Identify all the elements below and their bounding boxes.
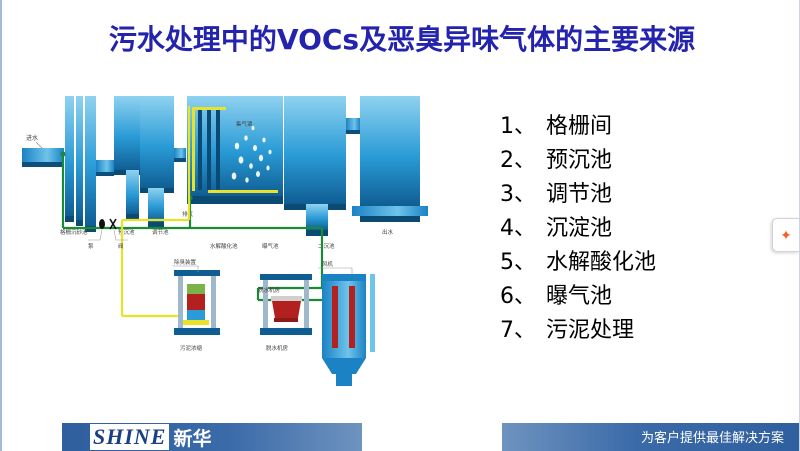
list-item: 5、 水解酸化池 bbox=[500, 244, 760, 278]
list-item-number: 4、 bbox=[500, 210, 546, 242]
list-item-number: 3、 bbox=[500, 176, 546, 208]
tank-grit-chamber bbox=[65, 96, 114, 232]
footer-tagline: 为客户提供最佳解决方案 bbox=[641, 427, 784, 446]
tank-pre-settling bbox=[114, 96, 140, 220]
floating-edge-widget[interactable]: ✦ bbox=[772, 218, 799, 252]
label-inlet: 进水 bbox=[26, 134, 38, 142]
pipe-node bbox=[60, 151, 65, 156]
label-hydrolysis: 水解酸化池 bbox=[210, 242, 238, 250]
list-item-number: 6、 bbox=[500, 278, 546, 310]
label-sludge-thicken: 污泥浓缩 bbox=[180, 344, 203, 352]
label-secondary: 二沉池 bbox=[318, 242, 335, 250]
list-item-number: 5、 bbox=[500, 244, 546, 276]
tank-hydrolysis-acidification bbox=[187, 96, 283, 204]
logo-text-cn: 新华 bbox=[173, 424, 211, 451]
list-item-label: 污泥处理 bbox=[546, 312, 634, 344]
process-flow-diagram: 进水 bbox=[22, 88, 462, 398]
list-item-number: 1、 bbox=[500, 108, 546, 140]
label-collect-hood: 集气罩 bbox=[236, 120, 253, 128]
slide-canvas: 污水处理中的VOCs及恶臭异味气体的主要来源 bbox=[0, 0, 800, 451]
list-item: 7、 污泥处理 bbox=[500, 312, 760, 346]
diffuser-rod bbox=[216, 110, 220, 190]
tank-secondary-clarifier bbox=[352, 96, 428, 222]
list-item: 1、 格栅间 bbox=[500, 108, 760, 142]
label-effluent: 出水 bbox=[382, 228, 394, 236]
tank-regulating bbox=[140, 96, 186, 228]
diffuser-rod bbox=[207, 110, 211, 190]
label-dewater-room: 脱水机房 bbox=[266, 344, 289, 352]
list-item: 2、 预沉池 bbox=[500, 142, 760, 176]
list-item-label: 水解酸化池 bbox=[546, 244, 656, 276]
label-pump: 泵 bbox=[88, 243, 94, 250]
list-item-label: 格栅间 bbox=[546, 108, 612, 140]
list-item: 3、 调节池 bbox=[500, 176, 760, 210]
unit-deodorization-tower bbox=[322, 274, 375, 386]
list-item-number: 7、 bbox=[500, 312, 546, 344]
list-item-label: 调节池 bbox=[546, 176, 612, 208]
label-aeration: 曝气池 bbox=[262, 242, 279, 250]
inlet-channel bbox=[22, 148, 64, 167]
label-regulate: 调节池 bbox=[152, 228, 169, 236]
list-item: 6、 曝气池 bbox=[500, 278, 760, 312]
brand-logo: SHINE 新华 bbox=[90, 424, 212, 450]
source-list: 1、 格栅间 2、 预沉池 3、 调节池 4、 沉淀池 5、 水解酸化池 6、 … bbox=[500, 108, 760, 346]
sparkle-icon: ✦ bbox=[780, 228, 792, 242]
unit-dewatering-house bbox=[260, 274, 312, 335]
unit-sludge-thickener bbox=[174, 270, 220, 335]
list-item-label: 曝气池 bbox=[546, 278, 612, 310]
label-pre-settle: 预沉池 bbox=[118, 228, 135, 236]
label-deodor-unit: 除臭装置 bbox=[174, 258, 197, 266]
leader-inlet bbox=[36, 142, 42, 148]
label-grit: 格栅沉砂池 bbox=[60, 228, 88, 236]
label-valve: 阀 bbox=[118, 242, 124, 250]
logo-text-en: SHINE bbox=[90, 424, 169, 450]
list-item-label: 沉淀池 bbox=[546, 210, 612, 242]
list-item-number: 2、 bbox=[500, 142, 546, 174]
tank-aeration bbox=[284, 96, 360, 236]
label-dewater: 脱水机房 bbox=[258, 286, 281, 294]
diffuser-rod bbox=[198, 110, 202, 190]
list-item-label: 预沉池 bbox=[546, 142, 612, 174]
footer-bar: SHINE 新华 为客户提供最佳解决方案 bbox=[2, 423, 800, 451]
page-title: 污水处理中的VOCs及恶臭异味气体的主要来源 bbox=[2, 18, 800, 58]
label-exhaust: 排气 bbox=[182, 210, 194, 218]
list-item: 4、 沉淀池 bbox=[500, 210, 760, 244]
label-fan: 风机 bbox=[322, 260, 334, 268]
